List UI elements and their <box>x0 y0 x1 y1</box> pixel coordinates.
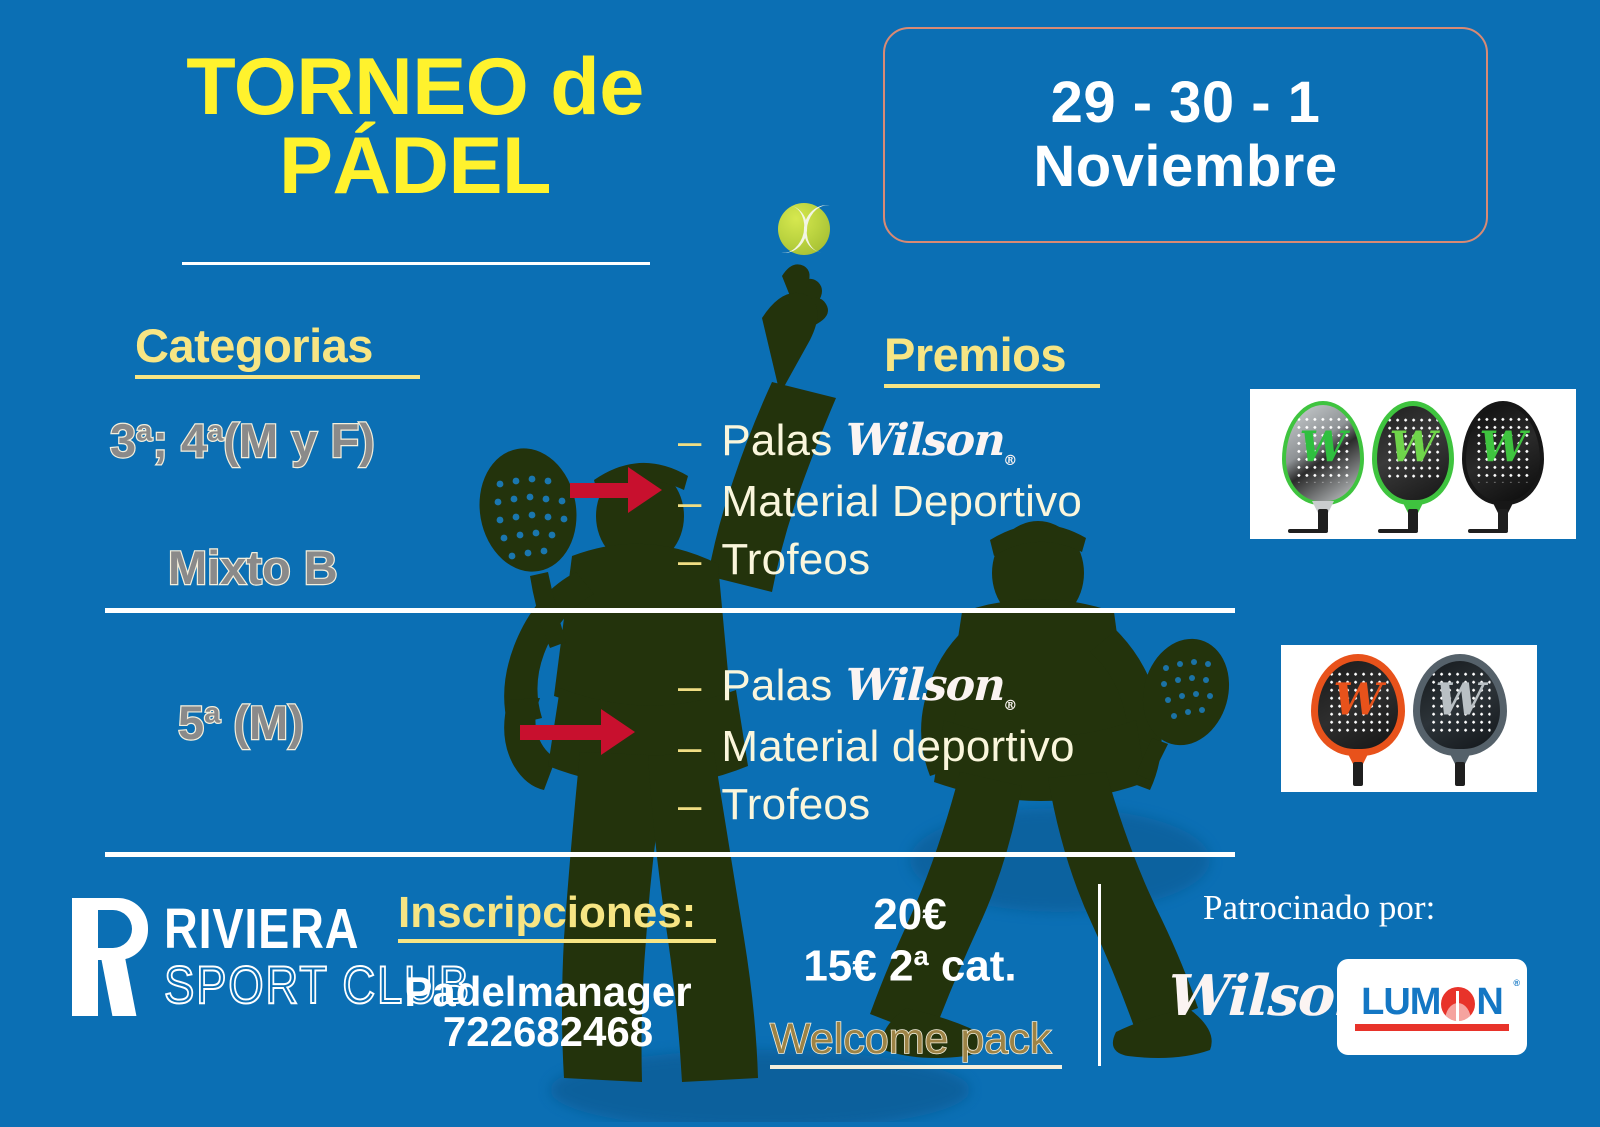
registration-heading: Inscripciones: <box>398 888 716 943</box>
welcome-pack-label: Welcome pack <box>770 1015 1062 1069</box>
date-line-2: Noviembre <box>1033 135 1337 199</box>
lumon-text-part-2: N <box>1476 983 1502 1021</box>
category-item-3: 5a (M) <box>178 695 304 750</box>
prize-row: – Palas Wilson® <box>678 415 1082 469</box>
category-item-2: Mixto B <box>168 540 338 595</box>
bullet-dash: – <box>678 665 701 707</box>
welcome-pack-underline <box>770 1065 1062 1069</box>
page-title: TORNEO de PÁDEL <box>110 48 720 205</box>
prize-row: – Trofeos <box>678 535 1082 585</box>
racket-black-green: W <box>1462 401 1544 533</box>
section-divider-2 <box>105 852 1235 857</box>
bullet-dash: – <box>678 481 701 523</box>
prize-label: Trofeos <box>721 535 870 585</box>
bullet-dash: – <box>678 784 701 826</box>
section-divider-1 <box>105 608 1235 613</box>
sponsors-heading: Patrocinado por: <box>1203 888 1435 928</box>
categories-heading: Categorias <box>135 318 420 379</box>
price-main: 20€ <box>730 890 1090 940</box>
riviera-r-mark-icon <box>72 898 150 1016</box>
prize-label: Material deportivo <box>721 722 1074 772</box>
wilson-wordmark: Wilson® <box>843 415 1019 469</box>
prizes-heading: Premios <box>884 327 1100 388</box>
prize-label: Trofeos <box>721 780 870 830</box>
lumon-globe-icon <box>1441 987 1475 1021</box>
poster-canvas: TORNEO de PÁDEL 29 - 30 - 1 Noviembre Ca… <box>0 0 1600 1122</box>
bullet-dash: – <box>678 539 701 581</box>
categories-heading-label: Categorias <box>135 319 373 372</box>
title-divider <box>182 262 650 265</box>
date-badge: 29 - 30 - 1 Noviembre <box>883 27 1488 243</box>
wilson-wordmark: Wilson® <box>843 660 1019 714</box>
lumon-underline-bar <box>1355 1024 1509 1031</box>
prize-label: Palas Wilson® <box>721 415 1018 469</box>
lumon-text-part-1: LUM <box>1361 983 1440 1021</box>
bullet-dash: – <box>678 726 701 768</box>
date-line-1: 29 - 30 - 1 <box>1033 71 1337 135</box>
prizes-block-1: – Palas Wilson® – Material Deportivo – T… <box>678 415 1082 593</box>
registration-phone: 722682468 <box>348 1008 748 1056</box>
racket-photo-card-1: W W W <box>1250 389 1576 539</box>
prize-label: Material Deportivo <box>721 477 1082 527</box>
prize-row: – Trofeos <box>678 780 1075 830</box>
racket-photo-card-2: W W <box>1281 645 1537 792</box>
prizes-heading-label: Premios <box>884 328 1066 381</box>
racket-orange-black: W <box>1311 654 1405 786</box>
prizes-block-2: – Palas Wilson® – Material deportivo – T… <box>678 660 1075 838</box>
prizes-heading-underline <box>884 384 1100 388</box>
lumon-registered-mark: ® <box>1513 979 1519 988</box>
sponsor-vertical-divider <box>1098 884 1101 1066</box>
racket-silver-green: W <box>1282 401 1364 533</box>
price-secondary: 15€ 2a cat. <box>730 940 1090 992</box>
registration-heading-underline <box>398 939 716 943</box>
prize-label: Palas Wilson® <box>721 660 1018 714</box>
prize-row: – Material deportivo <box>678 722 1075 772</box>
racket-green-black: W <box>1372 401 1454 533</box>
bullet-dash: – <box>678 420 701 462</box>
categories-heading-underline <box>135 375 420 379</box>
lumon-sponsor-logo: LUM N ® <box>1337 959 1527 1055</box>
prize-row: – Material Deportivo <box>678 477 1082 527</box>
category-item-1: 3a; 4a(M y F) <box>110 413 375 468</box>
registration-heading-label: Inscripciones: <box>398 888 696 937</box>
racket-gray-black: W <box>1413 654 1507 786</box>
prize-row: – Palas Wilson® <box>678 660 1075 714</box>
